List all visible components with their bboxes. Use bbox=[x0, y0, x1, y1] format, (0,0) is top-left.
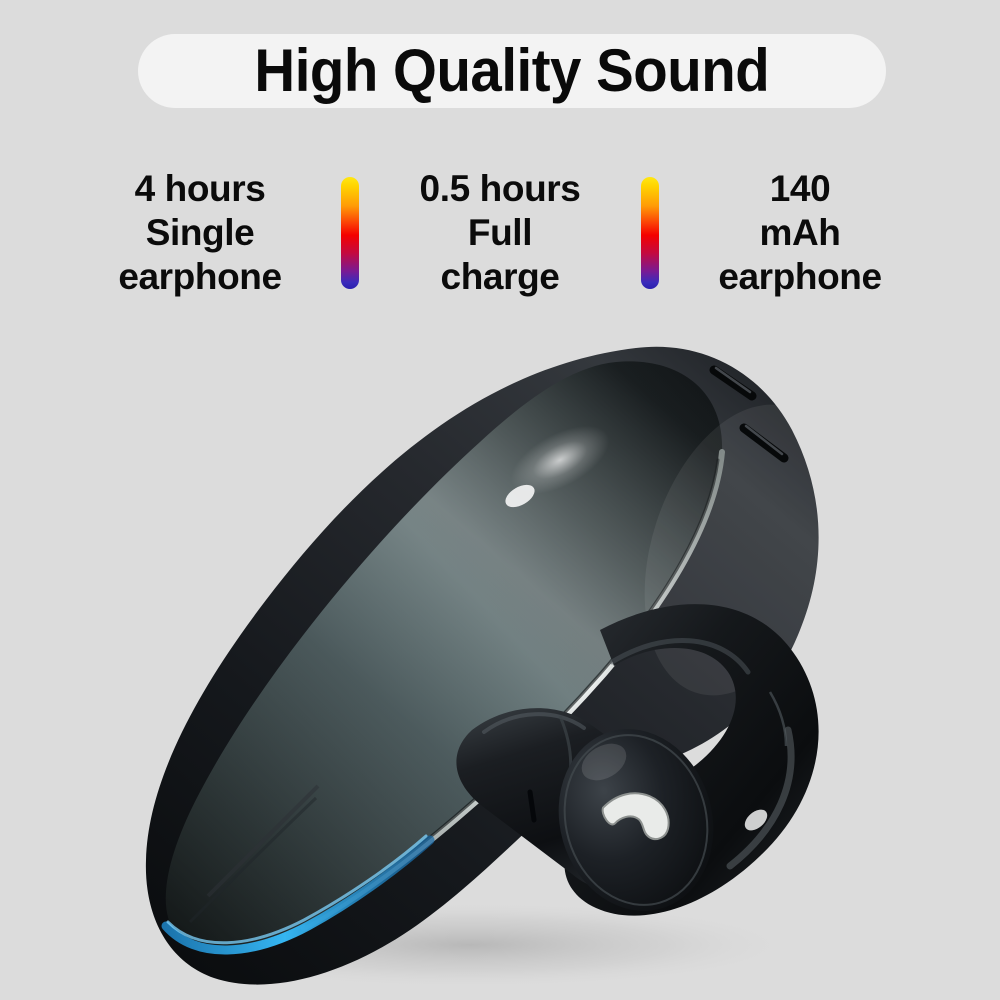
headset-illustration bbox=[0, 300, 1000, 1000]
spec-column-battery-life: 4 hours Single earphone bbox=[75, 167, 325, 299]
spec-label-line2: Single bbox=[75, 211, 325, 255]
spec-value: 140 bbox=[675, 167, 925, 211]
spec-row: 4 hours Single earphone 0.5 hours Full c… bbox=[0, 160, 1000, 305]
title-banner: High Quality Sound bbox=[138, 34, 886, 108]
spec-value: 0.5 hours bbox=[375, 167, 625, 211]
page-title: High Quality Sound bbox=[255, 41, 770, 101]
spec-label-line2: mAh bbox=[675, 211, 925, 255]
gradient-divider-1 bbox=[341, 177, 359, 289]
spec-label-line3: charge bbox=[375, 255, 625, 299]
gradient-divider-2 bbox=[641, 177, 659, 289]
spec-value: 4 hours bbox=[75, 167, 325, 211]
spec-label-line3: earphone bbox=[75, 255, 325, 299]
spec-label-line3: earphone bbox=[675, 255, 925, 299]
spec-column-charge-time: 0.5 hours Full charge bbox=[375, 167, 625, 299]
spec-column-capacity: 140 mAh earphone bbox=[675, 167, 925, 299]
product-marketing-image: High Quality Sound 4 hours Single earpho… bbox=[0, 0, 1000, 1000]
product-image bbox=[0, 300, 1000, 1000]
spec-label-line2: Full bbox=[375, 211, 625, 255]
